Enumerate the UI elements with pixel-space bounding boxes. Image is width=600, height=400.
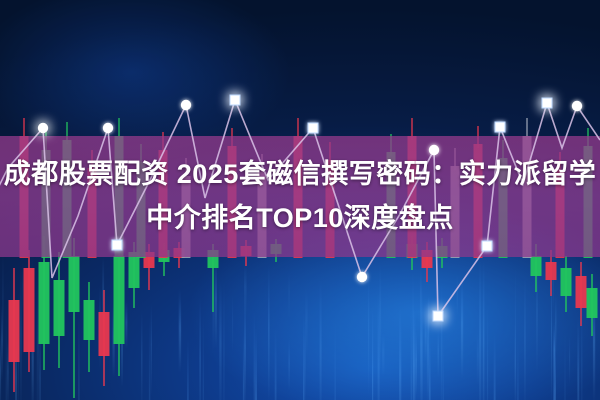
banner-image: 成都股票配资 2025套磁信撰写密码：实力派留学 中介排名TOP10深度盘点 <box>0 0 600 400</box>
page-title: 成都股票配资 2025套磁信撰写密码：实力派留学 中介排名TOP10深度盘点 <box>0 152 600 240</box>
headline-line-2: 中介排名TOP10深度盘点 <box>0 196 600 240</box>
headline-line-1: 成都股票配资 2025套磁信撰写密码：实力派留学 <box>0 152 600 196</box>
